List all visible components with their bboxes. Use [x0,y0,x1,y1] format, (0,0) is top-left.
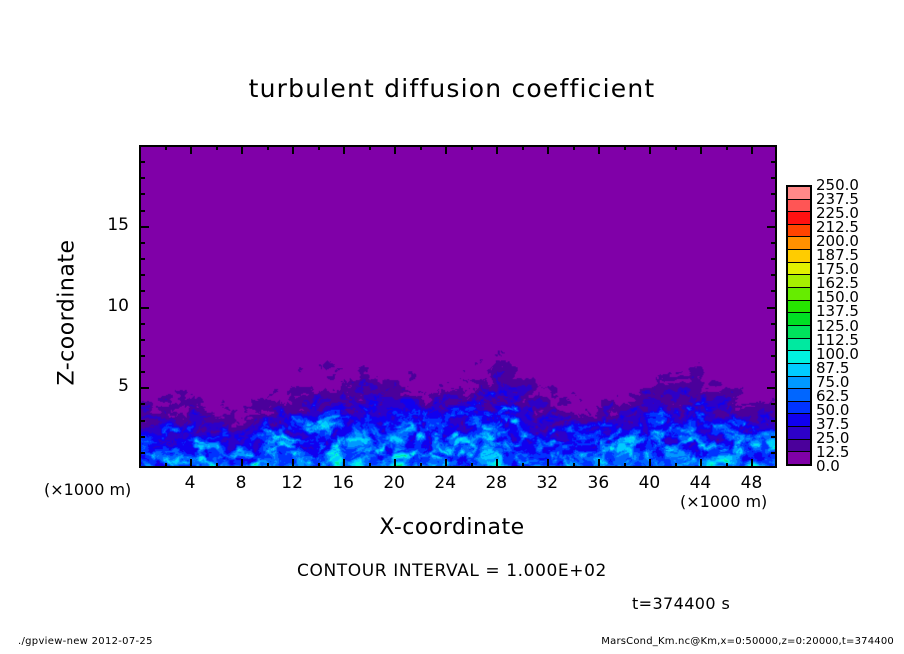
y-tick [139,290,145,292]
x-tick-label: 32 [527,473,567,493]
x-tick [471,463,473,468]
x-tick-top [343,145,345,154]
y-tick [139,403,145,405]
colorbar-band [788,312,810,325]
x-tick-top [573,145,575,150]
colorbar-band [788,439,810,452]
colorbar-tick-label: 237.5 [816,192,859,206]
colorbar-tick-label: 187.5 [816,248,859,262]
colorbar-band [788,376,810,389]
y-tick-right [771,339,777,341]
y-tick-right [771,355,777,357]
x-tick [420,463,422,468]
x-tick [598,459,600,468]
colorbar-band [788,236,810,249]
colorbar-band [788,187,810,199]
x-tick [700,459,702,468]
colorbar-tick-label: 100.0 [816,347,859,361]
y-tick-right [767,307,777,309]
x-tick-top [496,145,498,154]
y-axis-title: Z-coordinate [55,213,80,413]
y-tick-right [767,226,777,228]
y-tick-right [771,242,777,244]
colorbar-labels: 0.012.525.037.550.062.575.087.5100.0112.… [816,178,896,474]
x-tick [496,459,498,468]
x-tick-top [751,145,753,154]
y-tick-label: 5 [89,376,129,396]
y-tick [139,161,145,163]
x-tick-top [267,145,269,150]
y-tick-right [771,161,777,163]
x-tick-label: 48 [731,473,771,493]
x-tick-top [649,145,651,154]
y-tick [139,258,145,260]
x-tick-label: 20 [374,473,414,493]
x-tick [547,459,549,468]
x-tick [675,463,677,468]
colorbar-band [788,287,810,300]
x-tick-label: 24 [425,473,465,493]
x-tick-top [241,145,243,154]
x-tick [573,463,575,468]
x-tick [216,463,218,468]
x-tick-top [726,145,728,150]
colorbar-band [788,249,810,262]
x-tick [649,459,651,468]
colorbar-tick-label: 112.5 [816,333,859,347]
y-tick [139,307,149,309]
y-tick-right [771,403,777,405]
colorbar-band [788,262,810,275]
y-tick-right [771,258,777,260]
x-tick-label: 4 [170,473,210,493]
y-tick-right [771,371,777,373]
x-tick [241,459,243,468]
colorbar-tick-label: 62.5 [816,389,849,403]
x-tick-top [471,145,473,150]
colorbar-tick-label: 0.0 [816,459,840,473]
x-tick-top [420,145,422,150]
colorbar-tick-label: 225.0 [816,206,859,220]
x-tick-top [445,145,447,154]
x-tick-label: 8 [221,473,261,493]
y-tick-right [771,210,777,212]
y-tick-right [771,274,777,276]
x-tick-top [369,145,371,150]
y-tick-right [771,177,777,179]
x-tick-top [547,145,549,154]
x-tick-top [190,145,192,154]
x-tick [292,459,294,468]
plot-canvas: turbulent diffusion coefficient 48121620… [0,0,904,654]
x-unit-label-right: (×1000 m) [680,492,767,511]
y-tick [139,177,145,179]
y-tick [139,193,145,195]
x-tick-top [522,145,524,150]
colorbar-band [788,413,810,426]
turbulence-field-image [141,147,775,466]
footer-dataset: MarsCond_Km.nc@Km,x=0:50000,z=0:20000,t=… [601,636,894,647]
colorbar-tick-label: 175.0 [816,262,859,276]
y-tick-label: 15 [89,215,129,235]
x-tick [190,459,192,468]
x-tick [624,463,626,468]
x-unit-label-left: (×1000 m) [44,480,131,499]
colorbar-tick-label: 212.5 [816,220,859,234]
y-tick-right [771,193,777,195]
colorbar-tick-label: 75.0 [816,375,849,389]
x-tick-label: 28 [476,473,516,493]
contour-plot-frame [139,145,777,468]
x-tick-label: 16 [323,473,363,493]
colorbar-band [788,224,810,237]
colorbar-band [788,338,810,351]
colorbar-tick-label: 87.5 [816,361,849,375]
colorbar-band [788,426,810,439]
x-tick-label: 40 [629,473,669,493]
x-tick-label: 12 [272,473,312,493]
x-tick-top [216,145,218,150]
y-tick [139,274,145,276]
x-tick [318,463,320,468]
colorbar-tick-label: 50.0 [816,403,849,417]
colorbar-band [788,388,810,401]
colorbar [786,185,812,466]
x-tick [343,459,345,468]
x-tick-top [675,145,677,150]
y-tick-right [771,290,777,292]
colorbar-tick-label: 12.5 [816,445,849,459]
x-axis-title: X-coordinate [0,515,904,540]
colorbar-tick-label: 150.0 [816,290,859,304]
y-tick-label: 10 [89,296,129,316]
x-tick-top [624,145,626,150]
x-tick [445,459,447,468]
colorbar-tick-label: 125.0 [816,319,859,333]
x-tick [165,463,167,468]
y-tick-right [771,436,777,438]
colorbar-band [788,325,810,338]
y-tick [139,226,149,228]
colorbar-band [788,363,810,376]
colorbar-band [788,451,810,464]
colorbar-band [788,401,810,414]
x-tick-label: 36 [578,473,618,493]
colorbar-tick-label: 250.0 [816,178,859,192]
x-tick [369,463,371,468]
colorbar-band [788,211,810,224]
y-tick [139,355,145,357]
colorbar-band [788,350,810,363]
y-tick [139,420,145,422]
colorbar-tick-label: 137.5 [816,304,859,318]
x-tick-top [318,145,320,150]
y-tick [139,210,145,212]
colorbar-tick-label: 162.5 [816,276,859,290]
page-title: turbulent diffusion coefficient [0,74,904,103]
y-tick-right [771,420,777,422]
y-tick [139,339,145,341]
x-tick-top [165,145,167,150]
x-tick [522,463,524,468]
y-tick-right [771,452,777,454]
x-tick-top [292,145,294,154]
x-tick [267,463,269,468]
x-tick [394,459,396,468]
y-tick-right [771,323,777,325]
colorbar-band [788,300,810,313]
y-tick [139,371,145,373]
x-tick [751,459,753,468]
y-tick [139,387,149,389]
y-tick [139,323,145,325]
contour-interval-note: CONTOUR INTERVAL = 1.000E+02 [0,561,904,581]
x-tick [726,463,728,468]
time-stamp: t=374400 s [632,594,730,613]
colorbar-tick-label: 37.5 [816,417,849,431]
colorbar-tick-label: 200.0 [816,234,859,248]
colorbar-band [788,199,810,212]
x-tick-top [394,145,396,154]
y-tick [139,436,145,438]
y-tick-right [767,387,777,389]
x-tick-top [598,145,600,154]
x-tick-label: 44 [680,473,720,493]
y-tick [139,452,145,454]
y-tick [139,242,145,244]
colorbar-tick-label: 25.0 [816,431,849,445]
x-tick-top [700,145,702,154]
footer-command: ./gpview-new 2012-07-25 [18,636,153,647]
colorbar-band [788,274,810,287]
